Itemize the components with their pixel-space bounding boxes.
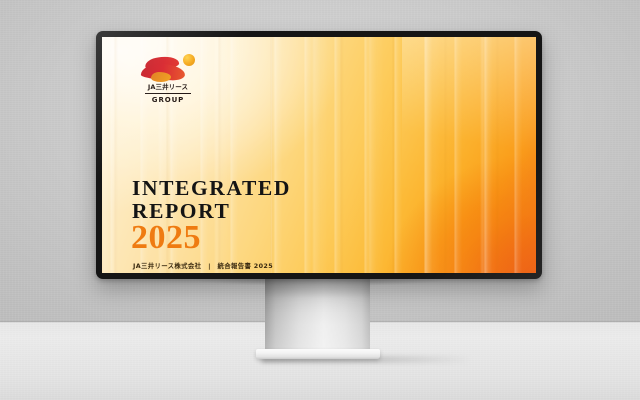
monitor-stand-neck [265, 279, 370, 353]
cover-title: INTEGRATED REPORT [132, 177, 291, 223]
logo-gold-circle-icon [183, 54, 195, 66]
cover-light-streak [402, 37, 536, 273]
cover-year: 2025 [131, 221, 201, 255]
monitor-frame: JA三井リース GROUP INTEGRATED REPORT 2025 JA三… [96, 31, 542, 279]
cover-subtitle: JA三井リース株式会社 | 統合報告書 2025 [133, 261, 273, 270]
company-logo: JA三井リース GROUP [136, 50, 200, 104]
logo-company-name: JA三井リース [136, 84, 200, 91]
logo-swoosh-tail-icon [151, 72, 171, 82]
scene-root: JA三井リース GROUP INTEGRATED REPORT 2025 JA三… [0, 0, 640, 400]
stand-neck-shading [265, 279, 370, 353]
logo-divider-rule [145, 93, 191, 94]
monitor-screen[interactable]: JA三井リース GROUP INTEGRATED REPORT 2025 JA三… [102, 37, 536, 273]
logo-group-label: GROUP [136, 96, 200, 104]
monitor-stand-base [256, 349, 380, 359]
ja-mitsui-lease-swoosh-mark-icon [139, 50, 197, 83]
